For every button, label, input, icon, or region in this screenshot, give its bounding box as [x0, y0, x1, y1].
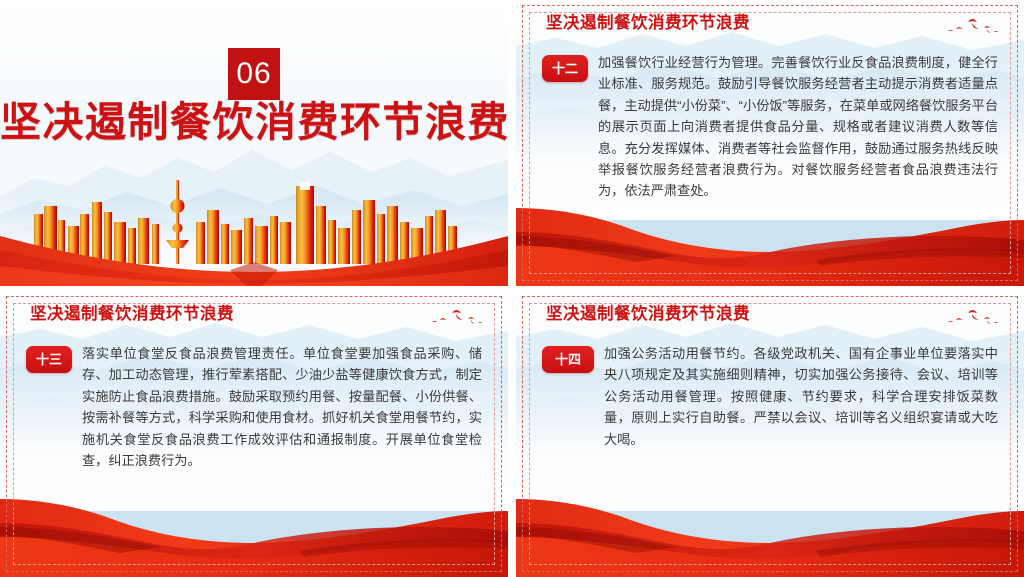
slide-deck: 06 坚决遏制餐饮消费环节浪费 — [0, 0, 1024, 577]
panel-body: 十三 落实单位食堂反食品浪费管理责任。单位食堂要加强食品采购、储存、加工动态管理… — [26, 343, 482, 471]
flying-birds-icon — [946, 307, 998, 329]
slide-title[interactable]: 06 坚决遏制餐饮消费环节浪费 — [0, 0, 508, 286]
panel-body: 十四 加强公务活动用餐节约。各级党政机关、国有企事业单位要落实中央八项规定及其实… — [542, 343, 998, 450]
slide-content-12[interactable]: 坚决遏制餐饮消费环节浪费 十二 加强餐饮行业经营行为管理。完善餐饮行业反食品浪费… — [516, 0, 1024, 286]
panel-header-title: 坚决遏制餐饮消费环节浪费 — [546, 15, 750, 32]
item-number-badge: 十二 — [542, 55, 588, 82]
panel-header-title: 坚决遏制餐饮消费环节浪费 — [30, 306, 234, 323]
item-number-badge: 十三 — [26, 346, 72, 373]
panel-body: 十二 加强餐饮行业经营行为管理。完善餐饮行业反食品浪费制度，健全行业标准、服务规… — [542, 52, 998, 202]
city-skyline-icon — [0, 166, 508, 286]
item-paragraph: 加强公务活动用餐节约。各级党政机关、国有企事业单位要落实中央八项规定及其实施细则… — [604, 343, 998, 450]
item-paragraph: 加强餐饮行业经营行为管理。完善餐饮行业反食品浪费制度，健全行业标准、服务规范。鼓… — [598, 52, 998, 202]
red-silk-wave-icon — [516, 202, 1024, 286]
slide-content-14[interactable]: 坚决遏制餐饮消费环节浪费 十四 加强公务活动用餐节约。各级党政机关、国有企事业单… — [516, 291, 1024, 577]
item-number-badge: 十四 — [542, 346, 594, 373]
flying-birds-icon — [430, 307, 482, 329]
red-silk-wave-icon — [0, 493, 508, 577]
section-number-badge: 06 — [228, 48, 280, 100]
red-silk-wave-icon — [516, 493, 1024, 577]
page-title: 坚决遏制餐饮消费环节浪费 — [0, 102, 508, 143]
slide-content-13[interactable]: 坚决遏制餐饮消费环节浪费 十三 落实单位食堂反食品浪费管理责任。单位食堂要加强食… — [0, 291, 508, 577]
item-paragraph: 落实单位食堂反食品浪费管理责任。单位食堂要加强食品采购、储存、加工动态管理，推行… — [82, 343, 482, 471]
flying-birds-icon — [946, 16, 998, 38]
panel-header-title: 坚决遏制餐饮消费环节浪费 — [546, 306, 750, 323]
